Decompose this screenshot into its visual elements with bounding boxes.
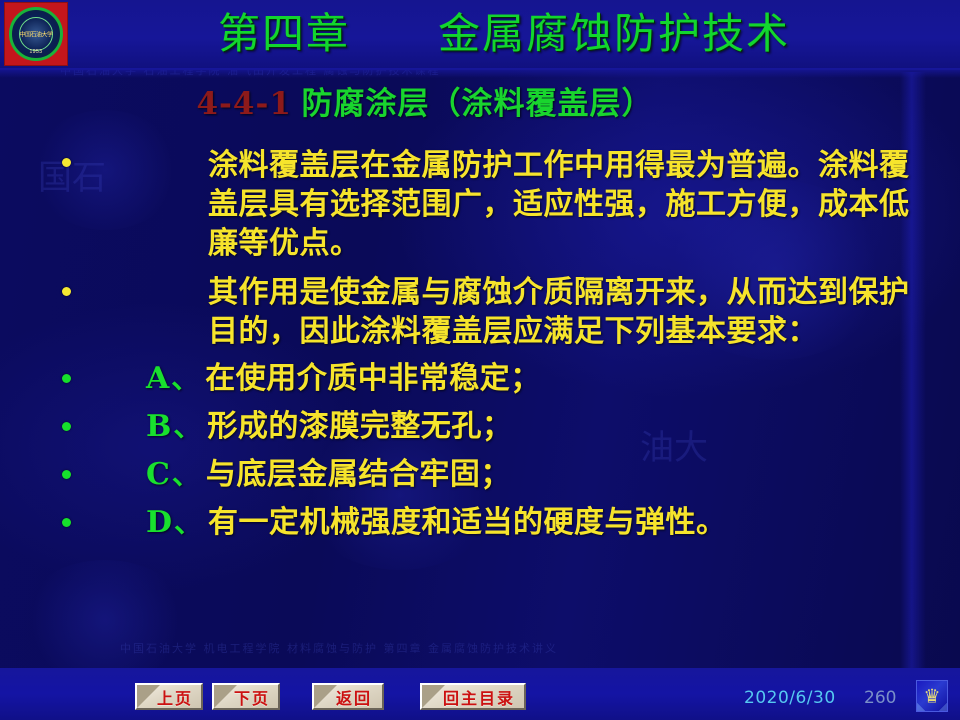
labeled-item-d: D 、 有一定机械强度和适当的硬度与弹性。 — [146, 501, 727, 545]
bullet-dot-icon — [62, 518, 71, 527]
trophy-icon[interactable]: ♛ — [916, 680, 948, 712]
page-title: 第四章 金属腐蚀防护技术 — [0, 4, 960, 64]
list-item: 其作用是使金属与腐蚀介质隔离开来，从而达到保护目的，因此涂料覆盖层应满足下列基本… — [0, 273, 960, 351]
header-underline — [0, 68, 960, 78]
list-item-text: 涂料覆盖层在金属防护工作中用得最为普遍。涂料覆盖层具有选择范围广，适应性强，施工… — [146, 146, 926, 263]
trophy-icon-glyph: ♛ — [923, 687, 940, 706]
section-subtitle-text: 防腐涂层（涂料覆盖层） — [302, 86, 654, 122]
item-label: D — [146, 501, 172, 545]
labeled-item-c: C 、 与底层金属结合牢固； — [146, 453, 511, 497]
footer-date: 2020/6/30 — [744, 688, 836, 708]
watermark-bottom-text: 中国石油大学 机电工程学院 材料腐蚀与防护 第四章 金属腐蚀防护技术讲义 — [120, 640, 558, 656]
body-bullet-list: 涂料覆盖层在金属防护工作中用得最为普遍。涂料覆盖层具有选择范围广，适应性强，施工… — [0, 140, 960, 545]
list-item-text: 其作用是使金属与腐蚀介质隔离开来，从而达到保护目的，因此涂料覆盖层应满足下列基本… — [146, 273, 926, 351]
prev-page-button[interactable]: 上页 — [135, 683, 203, 710]
section-number: 4-4-1 — [196, 86, 291, 122]
watermark-blob-lowleft — [20, 560, 190, 680]
list-item: B 、 形成的漆膜完整无孔； — [0, 405, 960, 449]
footer-page-number: 260 — [864, 688, 896, 708]
main-menu-button[interactable]: 回主目录 — [420, 683, 526, 710]
list-item: C 、 与底层金属结合牢固； — [0, 453, 960, 497]
item-separator: 、 — [173, 405, 201, 449]
next-page-label: 下页 — [222, 685, 270, 709]
item-label: C — [146, 453, 170, 497]
prev-page-label: 上页 — [145, 685, 193, 709]
item-separator: 、 — [171, 357, 199, 401]
item-separator: 、 — [172, 453, 200, 497]
bullet-dot-icon — [62, 470, 71, 479]
item-text: 形成的漆膜完整无孔； — [207, 405, 512, 449]
bullet-dot-icon — [62, 158, 71, 167]
slide-canvas: 国石 油大 中国石油大学 石油工程学院 油气田开发工程 腐蚀与防护技术课程 中国… — [0, 0, 960, 720]
list-item: A 、 在使用介质中非常稳定； — [0, 357, 960, 401]
main-menu-label: 回主目录 — [431, 685, 515, 709]
back-label: 返回 — [324, 685, 372, 709]
labeled-item-a: A 、 在使用介质中非常稳定； — [146, 357, 541, 401]
bullet-dot-icon — [62, 374, 71, 383]
next-page-button[interactable]: 下页 — [212, 683, 280, 710]
list-item: 涂料覆盖层在金属防护工作中用得最为普遍。涂料覆盖层具有选择范围广，适应性强，施工… — [0, 144, 960, 263]
item-text: 有一定机械强度和适当的硬度与弹性。 — [208, 501, 727, 545]
section-subtitle: 4-4-1 防腐涂层（涂料覆盖层） — [0, 82, 960, 126]
item-label: B — [146, 405, 171, 449]
bullet-dot-icon — [62, 422, 71, 431]
item-text: 在使用介质中非常稳定； — [205, 357, 541, 401]
item-text: 与底层金属结合牢固； — [206, 453, 511, 497]
labeled-item-b: B 、 形成的漆膜完整无孔； — [146, 405, 512, 449]
item-separator: 、 — [174, 501, 202, 545]
back-button[interactable]: 返回 — [312, 683, 384, 710]
list-item: D 、 有一定机械强度和适当的硬度与弹性。 — [0, 501, 960, 545]
item-label: A — [146, 357, 169, 401]
bullet-dot-icon — [62, 287, 71, 296]
